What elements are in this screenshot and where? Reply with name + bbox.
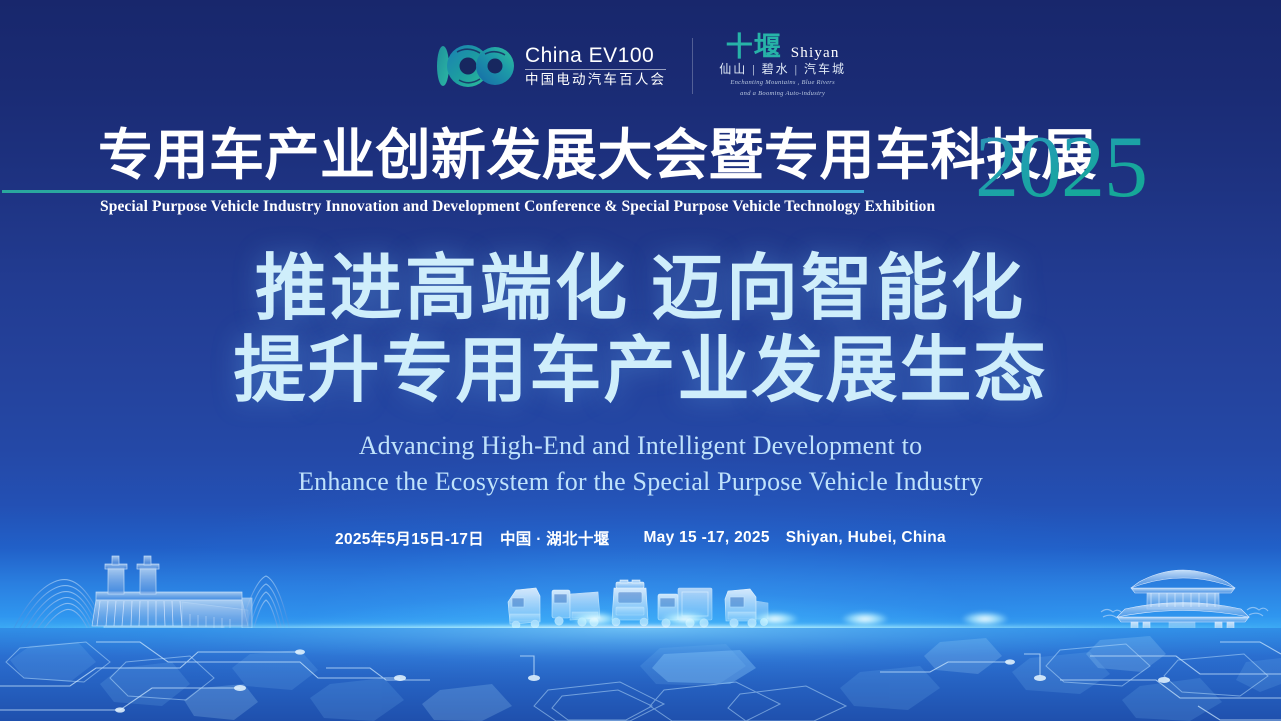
slogan-cn-line2: 提升专用车产业发展生态 xyxy=(0,330,1281,412)
slogan-en-line1: Advancing High-End and Intelligent Devel… xyxy=(0,428,1281,464)
shiyan-tagline-en-1: Enchanting Mountains , Blue Rivers xyxy=(730,78,835,88)
logo-shiyan: 十堰 Shiyan 仙山 | 碧水 | 汽车城 Enchanting Mount… xyxy=(719,34,846,99)
slogan-cn-line1: 推进高端化 迈向智能化 xyxy=(0,248,1281,330)
slogan-cn: 推进高端化 迈向智能化 提升专用车产业发展生态 xyxy=(0,248,1281,412)
shiyan-tagline-en-2: and a Booming Auto-industry xyxy=(740,89,825,99)
event-date-cn: 2025年5月15日-17日 xyxy=(335,527,484,549)
horizon-lamp xyxy=(752,612,798,626)
ev100-name-cn: 中国电动汽车百人会 xyxy=(525,73,666,87)
conference-banner: China EV100 中国电动汽车百人会 十堰 Shiyan 仙山 | 碧水 … xyxy=(0,0,1281,721)
hexagon-circuit-floor xyxy=(0,628,1281,721)
logo-separator xyxy=(692,38,693,94)
horizon-lamp xyxy=(962,612,1008,626)
logo-china-ev100: China EV100 中国电动汽车百人会 xyxy=(435,40,666,92)
shiyan-name-cn: 十堰 xyxy=(726,34,782,61)
ev100-infinity-icon xyxy=(435,40,515,92)
event-location-cn: 中国 · 湖北十堰 xyxy=(500,527,609,549)
conference-year: 2025 xyxy=(975,124,1147,212)
horizon-lamp xyxy=(572,612,618,626)
conference-title-cn: 专用车产业创新发展大会暨专用车科技展 xyxy=(98,126,1097,186)
shiyan-subtitle-cn: 仙山 | 碧水 | 汽车城 xyxy=(719,62,846,77)
title-divider xyxy=(2,190,864,193)
horizon-lamp xyxy=(842,612,888,626)
event-date-location: 2025年5月15日-17日 中国 · 湖北十堰 May 15 -17, 202… xyxy=(0,527,1281,549)
event-location-en: Shiyan, Hubei, China xyxy=(786,529,946,547)
slogan-en: Advancing High-End and Intelligent Devel… xyxy=(0,428,1281,500)
conference-title-en: Special Purpose Vehicle Industry Innovat… xyxy=(100,198,935,216)
slogan-en-line2: Enhance the Ecosystem for the Special Pu… xyxy=(0,464,1281,500)
ev100-name: China EV100 xyxy=(525,45,666,66)
event-date-en: May 15 -17, 2025 xyxy=(643,529,769,547)
logo-bar: China EV100 中国电动汽车百人会 十堰 Shiyan 仙山 | 碧水 … xyxy=(0,30,1281,102)
horizon-lamp xyxy=(662,612,708,626)
shiyan-name-en: Shiyan xyxy=(791,46,840,61)
ev100-divider xyxy=(525,69,666,70)
